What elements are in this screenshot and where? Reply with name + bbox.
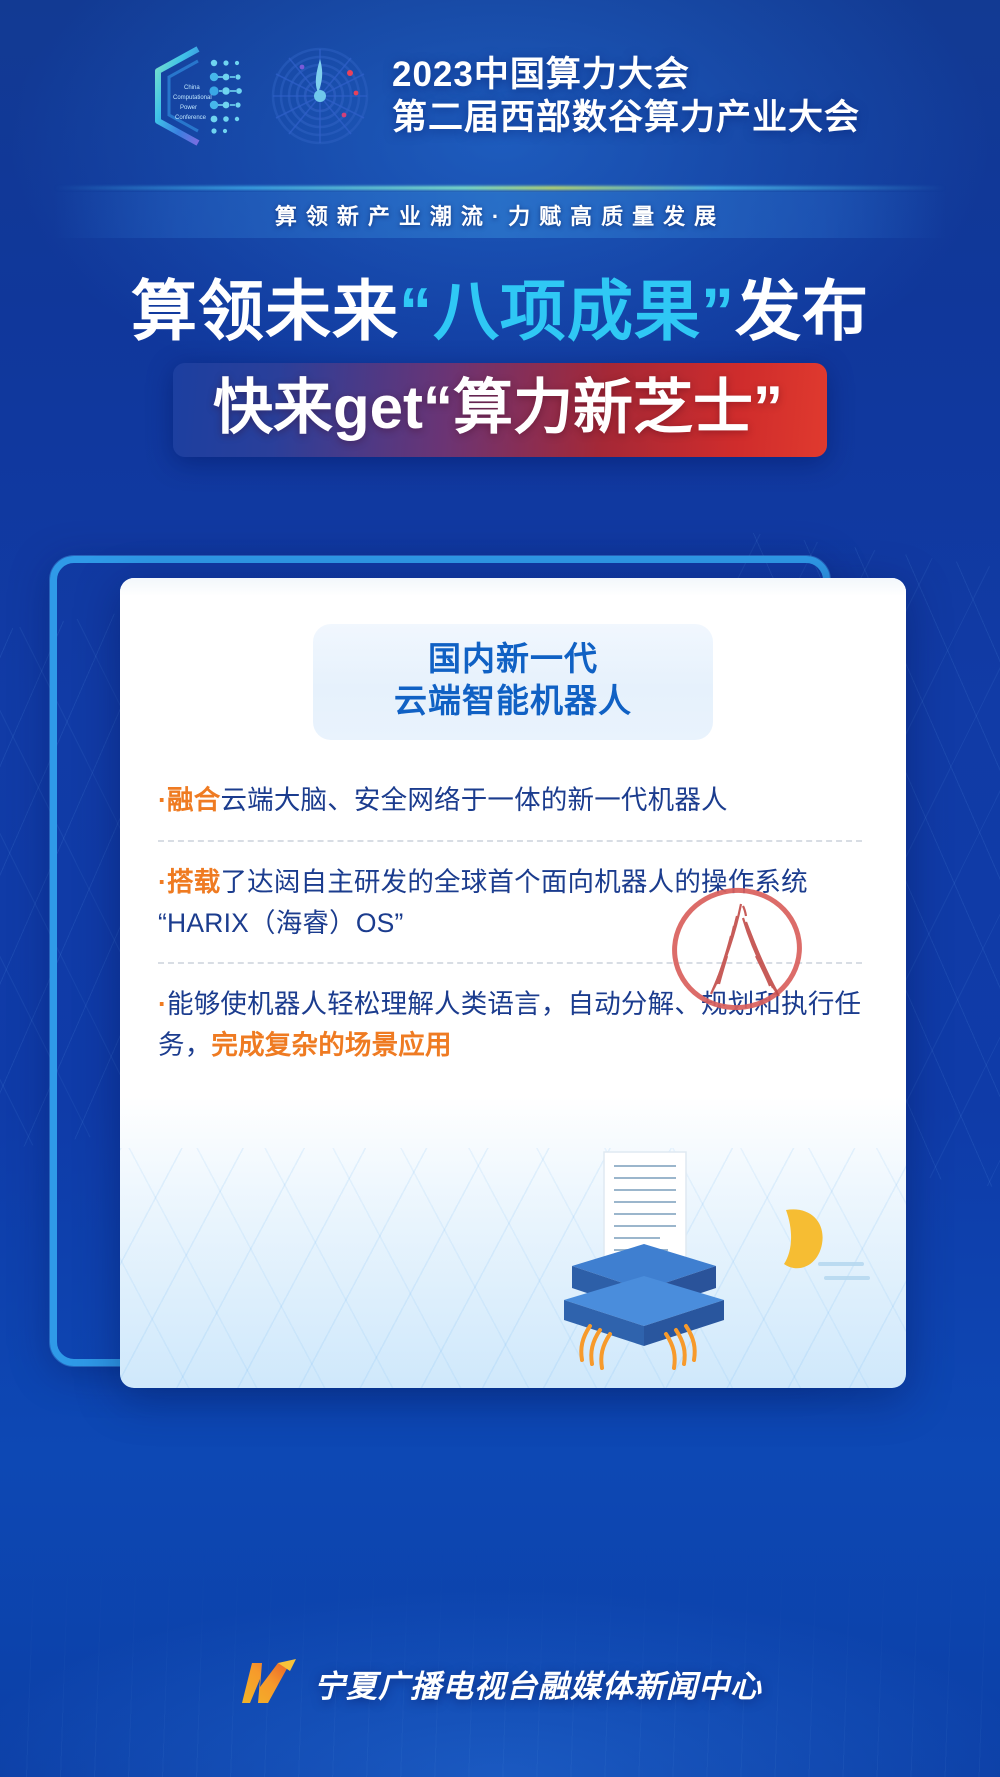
bullet-item-1: ·融合云端大脑、安全网络于一体的新一代机器人 bbox=[158, 760, 862, 839]
bullet-marker-2: · bbox=[158, 867, 167, 897]
card-top-strip bbox=[120, 578, 906, 596]
card-bullet-list: ·融合云端大脑、安全网络于一体的新一代机器人 ·搭载了达闼自主研发的全球首个面向… bbox=[120, 740, 906, 1083]
footer: 宁夏广播电视台融媒体新闻中心 bbox=[0, 1657, 1000, 1709]
bottom-glow bbox=[0, 1417, 1000, 1777]
yellow-leaf-shape bbox=[784, 1209, 823, 1268]
headline-part2: “八项成果” bbox=[399, 274, 735, 348]
headline-part1: 算领未来 bbox=[131, 274, 399, 348]
svg-text:Computational: Computational bbox=[173, 95, 212, 101]
bullet-marker-1: · bbox=[158, 785, 167, 815]
hexagon-logo-icon: China Computational Power Conference bbox=[140, 37, 258, 155]
bullet-item-2: ·搭载了达闼自主研发的全球首个面向机器人的操作系统“HARIX（海睿）OS” bbox=[158, 842, 862, 962]
main-headline: 算领未来“八项成果”发布 快来get“算力新芝士” bbox=[0, 276, 1000, 457]
conference-title-line1: 2023中国算力大会 bbox=[392, 54, 860, 95]
headline-line1: 算领未来“八项成果”发布 bbox=[0, 276, 1000, 347]
bullet-highlight-2: 搭载 bbox=[167, 867, 220, 897]
svg-text:Power: Power bbox=[180, 105, 197, 111]
card-title-line2: 云端智能机器人 bbox=[323, 680, 703, 722]
slogan-bar: 算领新产业潮流·力赋高质量发展 bbox=[54, 192, 946, 238]
bullet-tail-highlight-3: 完成复杂的场景应用 bbox=[211, 1030, 451, 1060]
result-card: 国内新一代 云端智能机器人 ·融合云端大脑、安全网络于一体的新一代机器人 ·搭载… bbox=[120, 578, 906, 1388]
conference-logos: China Computational Power Conference bbox=[140, 37, 374, 155]
card-title-line1: 国内新一代 bbox=[323, 638, 703, 680]
bullet-text-1: 云端大脑、安全网络于一体的新一代机器人 bbox=[220, 785, 727, 815]
headline-badge-text: 快来get“算力新芝士” bbox=[213, 373, 783, 443]
page-header: China Computational Power Conference bbox=[0, 0, 1000, 192]
slogan-text: 算领新产业潮流·力赋高质量发展 bbox=[275, 199, 725, 231]
nxtv-n-logo-icon bbox=[238, 1657, 300, 1709]
svg-text:China: China bbox=[184, 85, 200, 91]
svg-text:Conference: Conference bbox=[175, 115, 207, 121]
conference-title-line2: 第二届西部数谷算力产业大会 bbox=[392, 97, 860, 138]
bullet-highlight-1: 融合 bbox=[167, 785, 220, 815]
conference-title-block: 2023中国算力大会 第二届西部数谷算力产业大会 bbox=[392, 54, 860, 139]
headline-badge: 快来get“算力新芝士” bbox=[173, 363, 827, 457]
headline-part3: 发布 bbox=[735, 274, 869, 348]
footer-brand-text: 宁夏广播电视台融媒体新闻中心 bbox=[314, 1661, 762, 1706]
bullet-item-3: ·能够使机器人轻松理解人类语言，自动分解、规划和执行任务，完成复杂的场景应用 bbox=[158, 964, 862, 1084]
card-illustration bbox=[120, 1148, 906, 1388]
card-title-pill: 国内新一代 云端智能机器人 bbox=[313, 624, 713, 740]
bullet-marker-3: · bbox=[158, 989, 167, 1019]
bullet-text-2: 了达闼自主研发的全球首个面向机器人的操作系统“HARIX（海睿）OS” bbox=[158, 867, 808, 938]
radial-fan-logo-icon bbox=[256, 37, 374, 155]
headline-badge-wrap: 快来get“算力新芝士” bbox=[0, 363, 1000, 457]
